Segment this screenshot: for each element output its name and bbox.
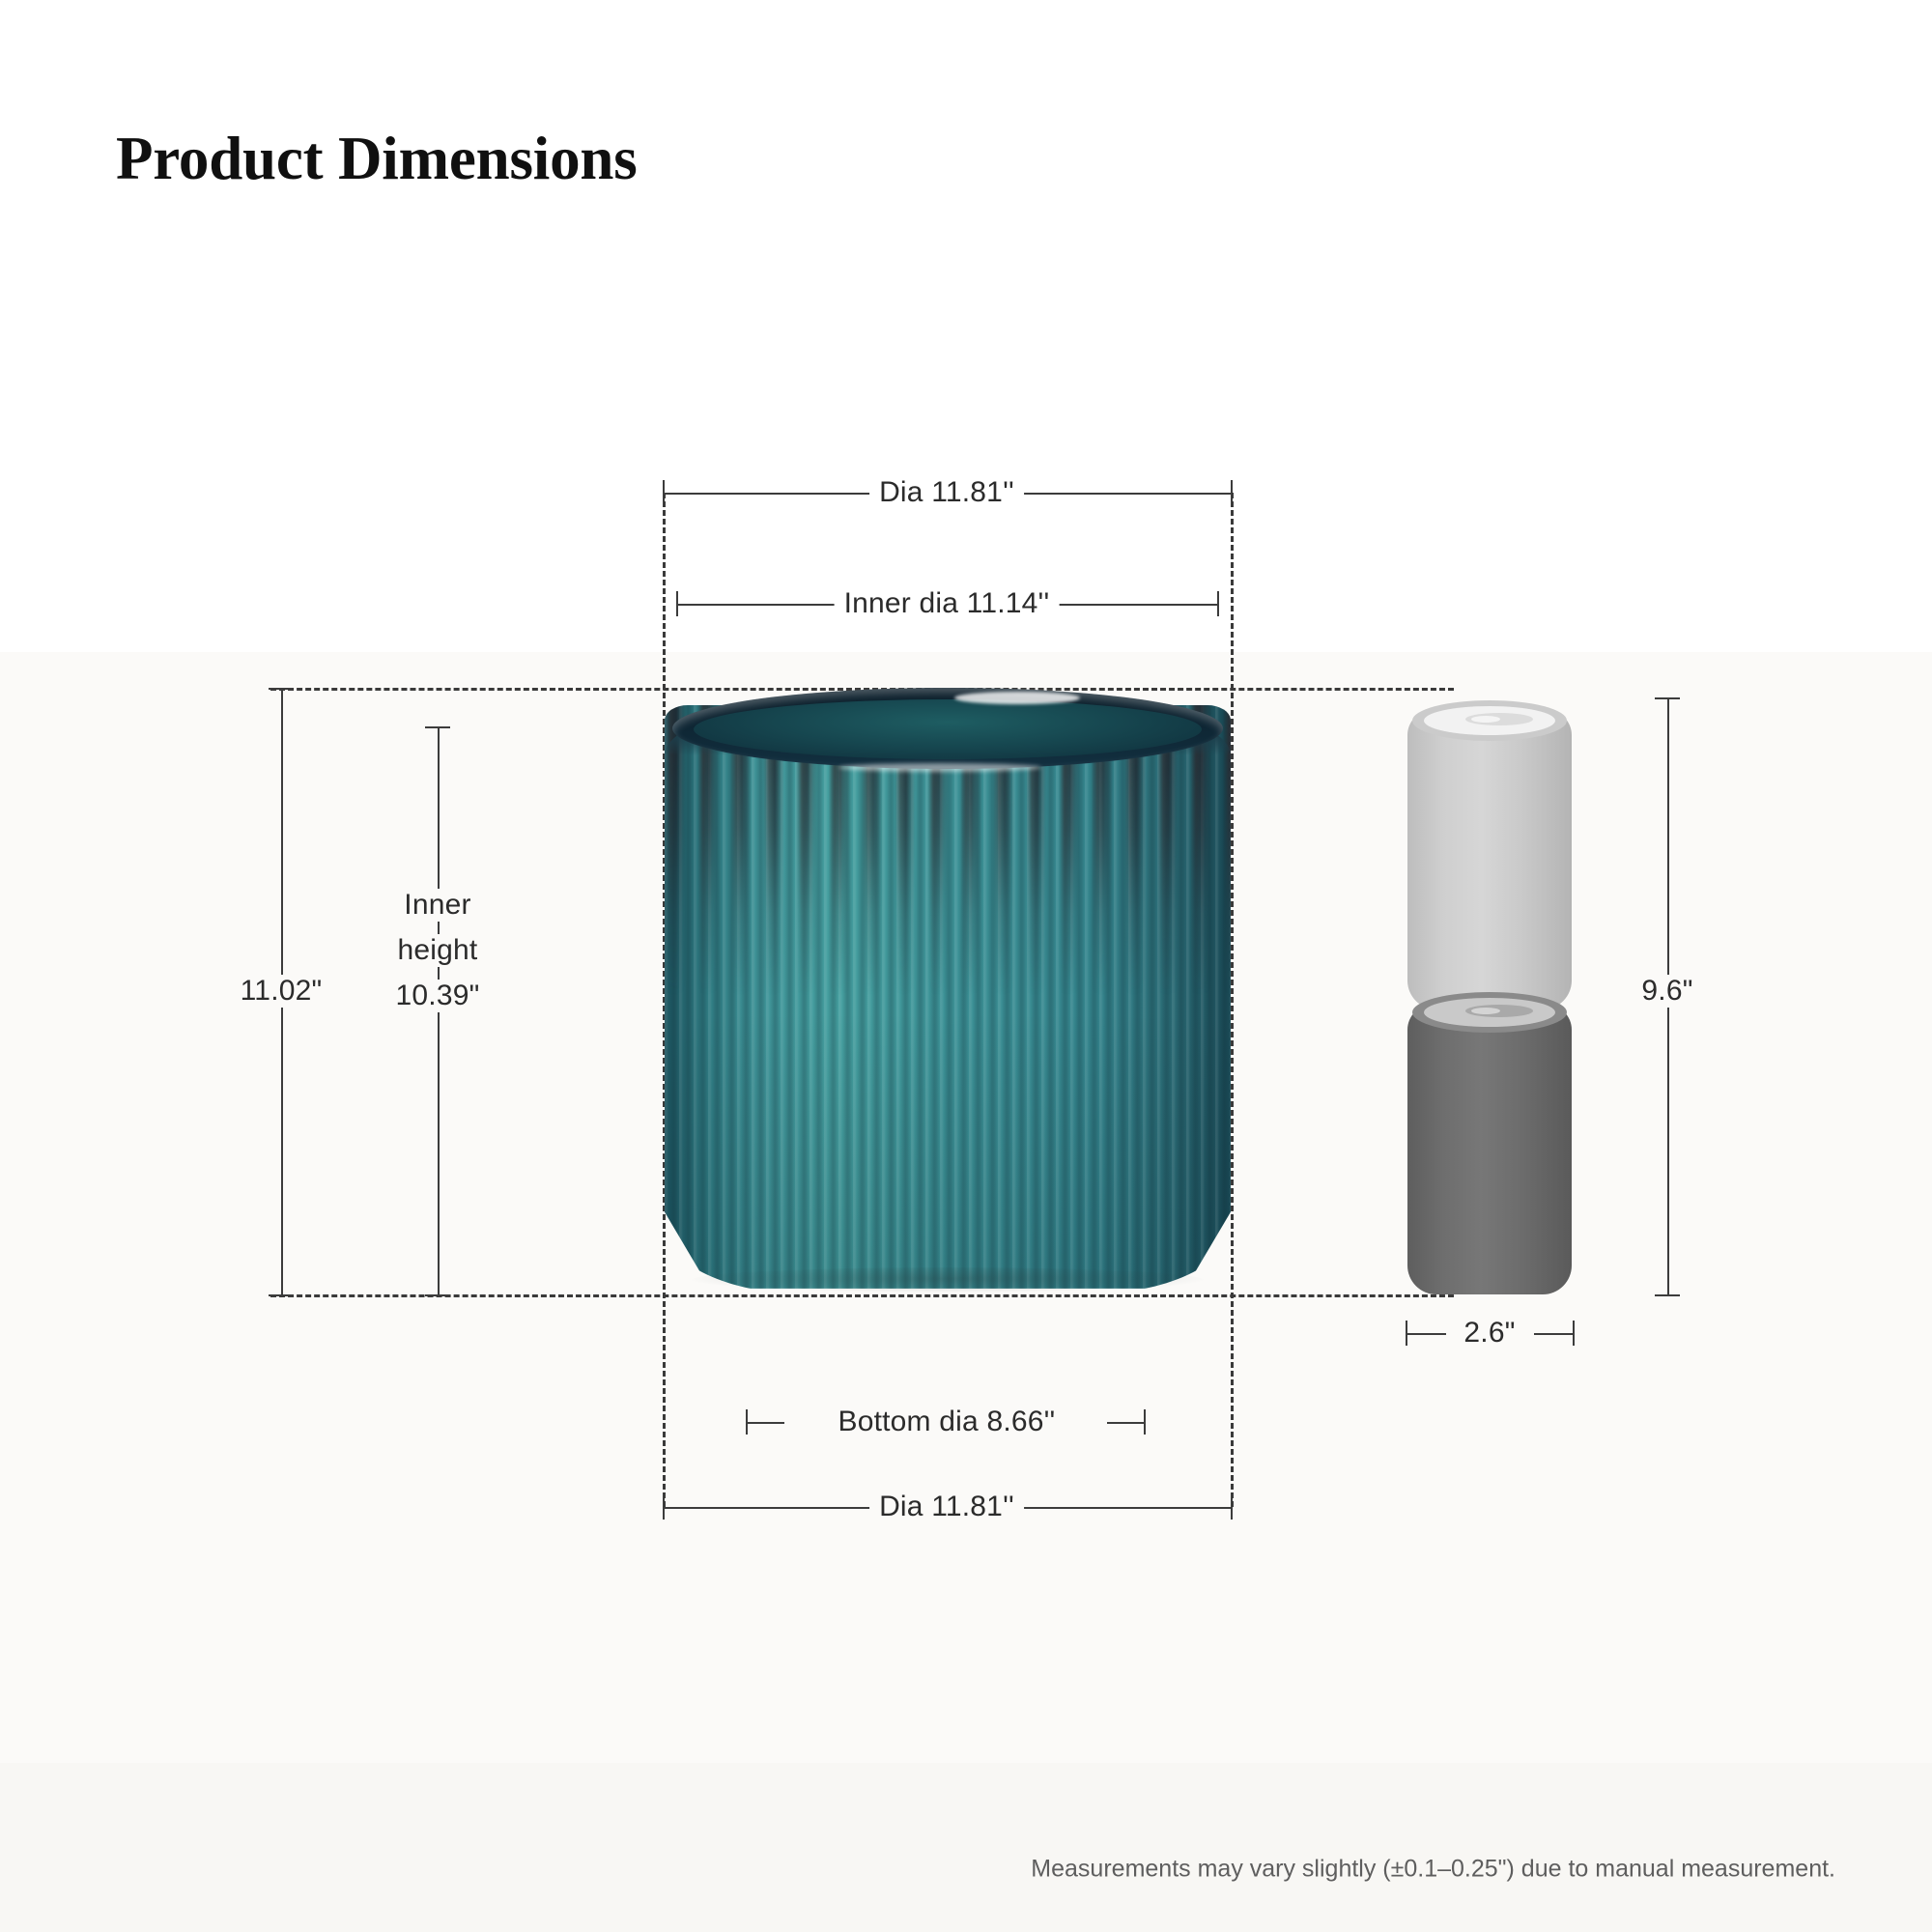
diagram-canvas: Product Dimensions Dia 11.81'' Inner dia… [0, 0, 1932, 1932]
soda-can-top [1407, 710, 1572, 1009]
background-band-footer [0, 1763, 1932, 1932]
dim-tick-inner-height-top [425, 726, 450, 728]
planter-base-shadow [692, 1267, 1204, 1293]
dim-tick-outer-dia-bottom-left [663, 1494, 665, 1520]
planter-rim-highlight [954, 692, 1080, 704]
dim-label-inner-dia: Inner dia 11.14'' [835, 587, 1060, 620]
soda-can-top-tab-hole [1471, 716, 1500, 723]
dim-tick-outer-dia-bottom-right [1231, 1494, 1233, 1520]
dim-tick-bottom-dia-right [1144, 1409, 1146, 1435]
dim-tick-outer-height-bottom [269, 1294, 294, 1296]
planter-product-image [665, 688, 1231, 1294]
dim-tick-can-width-right [1573, 1321, 1575, 1346]
dim-tick-can-height-top [1655, 697, 1680, 699]
dim-label-bottom-dia: Bottom dia 8.66'' [829, 1406, 1065, 1438]
dim-tick-can-width-left [1406, 1321, 1407, 1346]
page-title: Product Dimensions [116, 124, 638, 194]
dim-label-inner-height-word1: Inner [394, 889, 480, 922]
dim-tick-outer-dia-top-right [1231, 480, 1233, 505]
planter-rim-highlight-lower [838, 763, 1041, 772]
dim-tick-inner-dia-right [1217, 591, 1219, 616]
soda-can-bottom-body [1407, 1005, 1572, 1294]
measurement-disclaimer: Measurements may vary slightly (±0.1–0.2… [1031, 1856, 1835, 1884]
planter-interior [694, 699, 1202, 759]
dim-tick-outer-height-top [269, 688, 294, 690]
dim-tick-inner-dia-left [676, 591, 678, 616]
dim-line-can-width-left-stub [1406, 1333, 1446, 1335]
dim-label-outer-dia-bottom: Dia 11.81'' [869, 1491, 1024, 1523]
soda-can-top-body [1407, 710, 1572, 1009]
dim-tick-inner-height-bottom [425, 1294, 450, 1296]
planter-body [665, 705, 1231, 1294]
dim-line-bottom-dia-right-stub [1107, 1422, 1146, 1424]
soda-can-bottom [1407, 1005, 1572, 1294]
dim-tick-can-height-bottom [1655, 1294, 1680, 1296]
dim-label-outer-dia-top: Dia 11.81'' [869, 476, 1024, 509]
dim-label-inner-height-word2: height [388, 934, 488, 967]
dim-line-can-width-right-stub [1534, 1333, 1575, 1335]
dim-tick-bottom-dia-left [746, 1409, 748, 1435]
dim-label-can-width: 2.6" [1454, 1317, 1524, 1350]
dim-tick-outer-dia-top-left [663, 480, 665, 505]
dim-label-inner-height-value: 10.39" [386, 980, 490, 1012]
guide-dashed-vertical-right [1231, 493, 1234, 1507]
dim-line-bottom-dia-left-stub [746, 1422, 784, 1424]
dim-label-outer-height: 11.02" [231, 975, 332, 1008]
dim-label-can-height: 9.6" [1632, 975, 1702, 1008]
soda-can-bottom-tab-hole [1471, 1008, 1500, 1014]
